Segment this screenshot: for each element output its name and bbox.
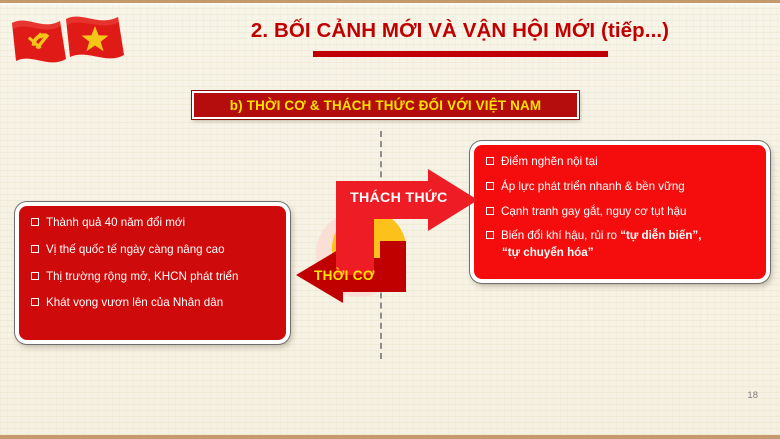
square-bullet-icon — [31, 218, 39, 226]
list-item: Khát vọng vươn lên của Nhân dân — [31, 296, 280, 311]
list-item: Thành quả 40 năm đổi mới — [31, 216, 280, 231]
section-banner-label: b) THỜI CƠ & THÁCH THỨC ĐỐI VỚI VIỆT NAM — [230, 98, 542, 113]
section-banner: b) THỜI CƠ & THÁCH THỨC ĐỐI VỚI VIỆT NAM — [192, 91, 579, 119]
challenges-box: Điểm nghẽn nội tại Áp lực phát triển nha… — [470, 141, 770, 283]
challenge-arrow-shape — [336, 169, 478, 275]
list-item: Điểm nghẽn nội tại — [486, 155, 760, 170]
title-underline-rule — [313, 51, 608, 57]
slide-title-block: 2. BỐI CẢNH MỚI VÀ VẬN HỘI MỚI (tiếp...) — [150, 19, 770, 57]
list-item-label: Cạnh tranh gay gắt, nguy cơ tụt hậu — [501, 205, 760, 220]
list-item-label: Khát vọng vươn lên của Nhân dân — [46, 296, 280, 311]
vietnam-party-flags — [8, 11, 136, 71]
arrow-shapes — [288, 163, 493, 308]
square-bullet-icon — [31, 298, 39, 306]
opportunities-box: Thành quả 40 năm đổi mới Vị thế quốc tế … — [15, 202, 290, 344]
list-item: Cạnh tranh gay gắt, nguy cơ tụt hậu — [486, 205, 760, 220]
list-item-continuation: “tự chuyển hóa” — [502, 246, 760, 259]
page-number: 18 — [747, 390, 758, 401]
list-item: Vị thế quốc tế ngày càng nâng cao — [31, 243, 280, 258]
list-item-prefix: Biến đổi khí hậu, rủi ro — [501, 229, 620, 242]
slide-canvas: 2. BỐI CẢNH MỚI VÀ VẬN HỘI MỚI (tiếp...)… — [0, 0, 780, 439]
list-item-label: Biến đổi khí hậu, rủi ro “tự diễn biến”, — [501, 229, 760, 244]
flags-illustration — [8, 11, 136, 71]
page-title: 2. BỐI CẢNH MỚI VÀ VẬN HỘI MỚI (tiếp...) — [150, 19, 770, 44]
list-item: Thị trường rộng mở, KHCN phát triển — [31, 270, 280, 285]
square-bullet-icon — [31, 245, 39, 253]
square-bullet-icon — [31, 272, 39, 280]
list-item: Áp lực phát triển nhanh & bền vững — [486, 180, 760, 195]
list-item: Biến đổi khí hậu, rủi ro “tự diễn biến”, — [486, 229, 760, 244]
list-item-label: Thị trường rộng mở, KHCN phát triển — [46, 270, 280, 285]
list-item-label: Điểm nghẽn nội tại — [501, 155, 760, 170]
list-item-label: Áp lực phát triển nhanh & bền vững — [501, 180, 760, 195]
list-item-label: Vị thế quốc tế ngày càng nâng cao — [46, 243, 280, 258]
arrow-diagram: THÁCH THỨC THỜI CƠ — [288, 163, 493, 308]
list-item-label: Thành quả 40 năm đổi mới — [46, 216, 280, 231]
list-item-emphasis: “tự diễn biến”, — [620, 229, 701, 242]
